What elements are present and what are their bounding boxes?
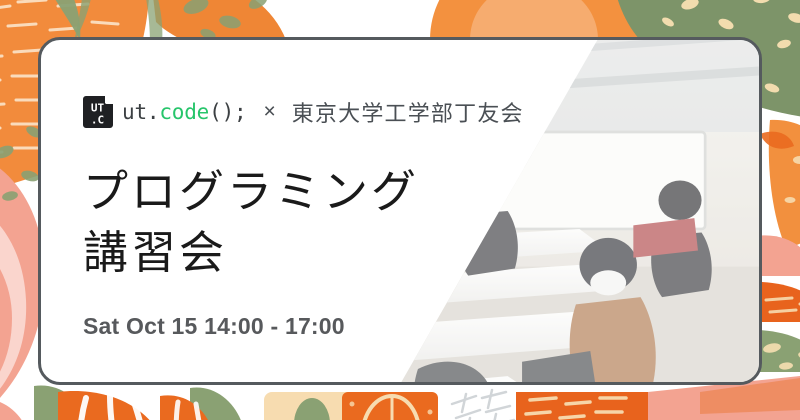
headline-line-2: 講習会 — [83, 222, 553, 283]
ut-code-logo-icon: UT .C — [83, 96, 113, 128]
brand-name-suffix: (); — [209, 100, 246, 124]
card-text-block: UT .C ut.code(); × 東京大学工学部丁友会 プログラミング 講習… — [83, 40, 553, 382]
brand-row: UT .C ut.code(); × 東京大学工学部丁友会 — [83, 96, 553, 128]
brand-name-prefix: ut. — [122, 100, 159, 124]
page-title: プログラミング 講習会 — [83, 161, 553, 283]
event-card: UT .C ut.code(); × 東京大学工学部丁友会 プログラミング 講習… — [38, 37, 762, 385]
collaboration-separator: × — [263, 100, 275, 124]
event-datetime: Sat Oct 15 14:00 - 17:00 — [83, 313, 553, 340]
svg-text:.C: .C — [91, 114, 104, 127]
headline-line-1: プログラミング — [83, 161, 553, 222]
partner-organization-name: 東京大学工学部丁友会 — [292, 96, 524, 128]
brand-name: ut.code(); — [122, 100, 246, 124]
poster-canvas: UT .C ut.code(); × 東京大学工学部丁友会 プログラミング 講習… — [0, 0, 800, 420]
brand-name-highlight: code — [159, 100, 209, 124]
